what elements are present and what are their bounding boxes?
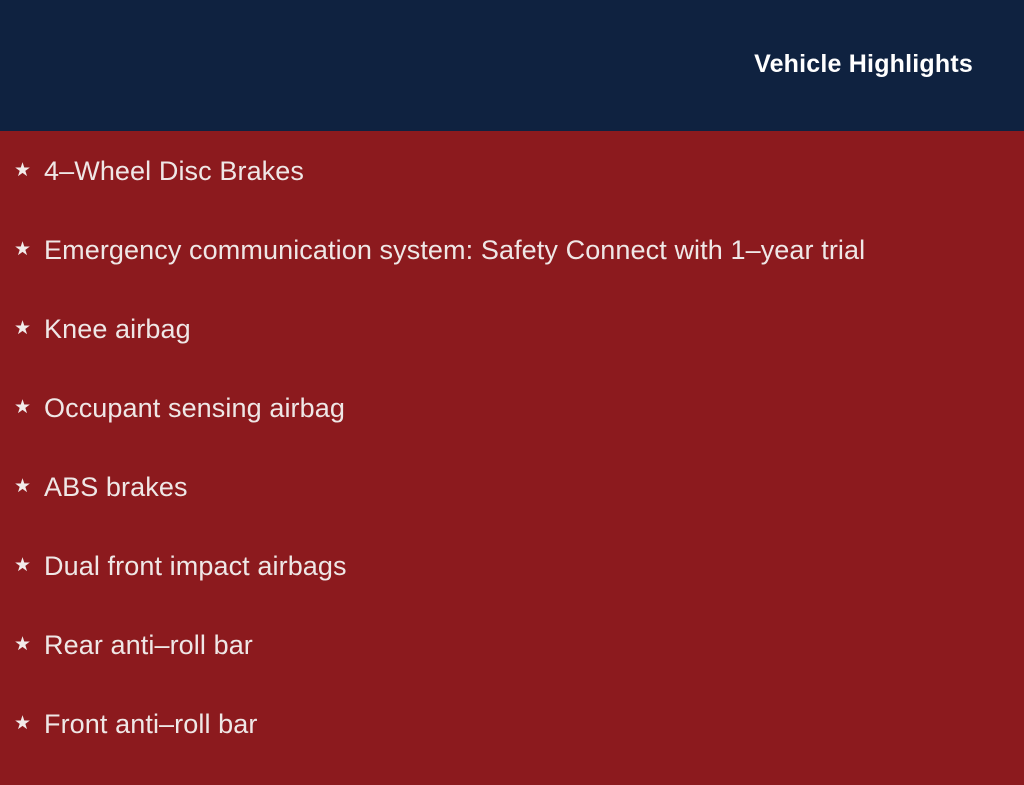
vehicle-highlights-slide: Vehicle Highlights ★ 4–Wheel Disc Brakes… [0, 0, 1024, 768]
star-bullet-icon: ★ [14, 311, 44, 347]
star-bullet-icon: ★ [14, 390, 44, 426]
list-item: ★ Rear anti–roll bar [0, 627, 1024, 706]
star-bullet-icon: ★ [14, 153, 44, 189]
highlight-label: Occupant sensing airbag [44, 390, 1024, 426]
list-item: ★ Occupant sensing airbag [0, 390, 1024, 469]
highlight-label: Front anti–roll bar [44, 706, 1024, 742]
slide-header: Vehicle Highlights [0, 0, 1024, 131]
list-item: ★ Emergency communication system: Safety… [0, 232, 1024, 311]
list-item: ★ Dual front impact airbags [0, 548, 1024, 627]
list-item: ★ Front anti–roll bar [0, 706, 1024, 785]
page-title: Vehicle Highlights [754, 51, 973, 79]
slide-body: ★ 4–Wheel Disc Brakes ★ Emergency commun… [0, 131, 1024, 768]
highlight-label: Rear anti–roll bar [44, 627, 1024, 663]
list-item: ★ ABS brakes [0, 469, 1024, 548]
highlight-label: Emergency communication system: Safety C… [44, 232, 1024, 268]
highlight-label: ABS brakes [44, 469, 1024, 505]
star-bullet-icon: ★ [14, 627, 44, 663]
list-item: ★ 4–Wheel Disc Brakes [0, 131, 1024, 232]
highlight-label: 4–Wheel Disc Brakes [44, 153, 1024, 189]
list-item: ★ Knee airbag [0, 311, 1024, 390]
vehicle-highlights-list: ★ 4–Wheel Disc Brakes ★ Emergency commun… [0, 131, 1024, 785]
star-bullet-icon: ★ [14, 469, 44, 505]
star-bullet-icon: ★ [14, 548, 44, 584]
highlight-label: Dual front impact airbags [44, 548, 1024, 584]
highlight-label: Knee airbag [44, 311, 1024, 347]
star-bullet-icon: ★ [14, 232, 44, 268]
star-bullet-icon: ★ [14, 706, 44, 742]
